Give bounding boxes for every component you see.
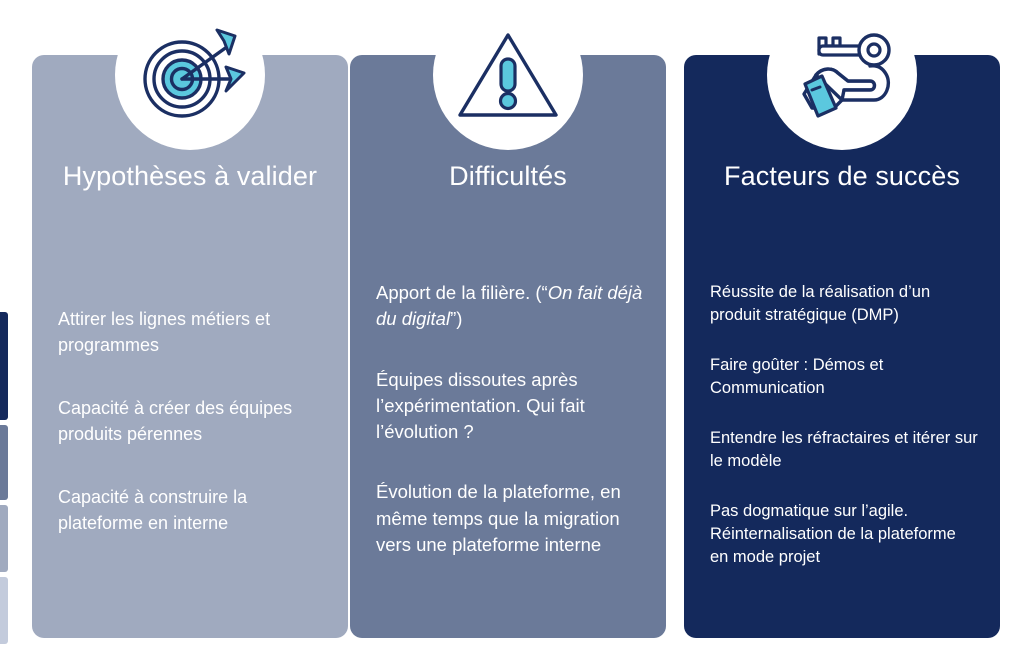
- hand-holding-key-icon-badge: [767, 0, 917, 150]
- list-item: Pas dogmatique sur l’agile. Réinternalis…: [710, 500, 978, 570]
- hand-holding-key-icon: [786, 28, 898, 122]
- card-body-facteurs-de-succes: Réussite de la réalisation d’un produit …: [684, 281, 1000, 570]
- edge-fragment-pale-slate: [0, 577, 8, 644]
- card-difficultes[interactable]: Difficultés Apport de la filière. (“On f…: [350, 55, 666, 638]
- list-item: Équipes dissoutes après l’expérimentatio…: [376, 367, 644, 446]
- target-arrow-icon-badge: [115, 0, 265, 150]
- warning-triangle-icon-badge: [433, 0, 583, 150]
- card-body-hypotheses: Attirer les lignes métiers et programmes…: [32, 307, 348, 536]
- list-item: Capacité à construire la plateforme en i…: [58, 485, 326, 536]
- list-item-suffix: ”): [450, 308, 462, 329]
- edge-fragment-slate: [0, 425, 8, 500]
- list-item: Entendre les réfractaires et itérer sur …: [710, 427, 978, 474]
- edge-fragment-light-slate: [0, 505, 8, 572]
- list-item: Évolution de la plateforme, en même temp…: [376, 479, 644, 558]
- card-hypotheses[interactable]: Hypothèses à valider Attirer les lignes …: [32, 55, 348, 638]
- list-item: Attirer les lignes métiers et programmes: [58, 307, 326, 358]
- list-item-prefix: Apport de la filière. (“: [376, 282, 548, 303]
- card-body-difficultes: Apport de la filière. (“On fait déjà du …: [350, 280, 666, 558]
- target-arrow-icon: [134, 26, 246, 124]
- warning-triangle-icon: [456, 29, 560, 121]
- list-item: Réussite de la réalisation d’un produit …: [710, 281, 978, 328]
- list-item: Capacité à créer des équipes produits pé…: [58, 396, 326, 447]
- edge-fragment-navy: [0, 312, 8, 420]
- list-item: Apport de la filière. (“On fait déjà du …: [376, 280, 644, 333]
- slide-canvas: Hypothèses à valider Attirer les lignes …: [0, 0, 1024, 658]
- list-item: Faire goûter : Démos et Communication: [710, 354, 978, 401]
- card-title-difficultes: Difficultés: [350, 159, 666, 195]
- card-title-hypotheses: Hypothèses à valider: [32, 159, 348, 195]
- card-facteurs-de-succes[interactable]: Facteurs de succès Réussite de la réalis…: [684, 55, 1000, 638]
- card-title-facteurs-de-succes: Facteurs de succès: [684, 159, 1000, 195]
